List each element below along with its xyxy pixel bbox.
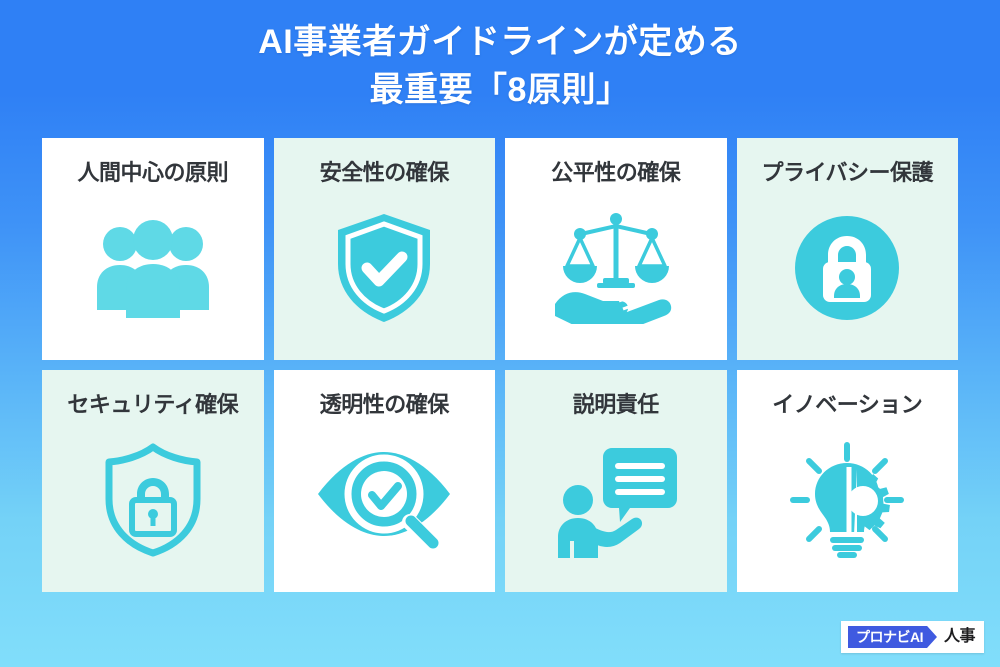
poster-canvas: AI事業者ガイドラインが定める 最重要「8原則」 人間中心の原則: [0, 0, 1000, 667]
logo-brand: プロナビAI: [848, 626, 937, 648]
shield-check-icon: [282, 186, 488, 350]
logo-suffix: 人事: [944, 628, 975, 646]
title-line-2: 最重要「8原則」: [0, 66, 1000, 114]
principle-card-8: イノベーション: [737, 370, 959, 592]
eye-magnifier-check-icon: [282, 418, 488, 582]
person-speech-bubble-icon: [513, 418, 719, 582]
card-title: 安全性の確保: [320, 160, 449, 186]
principles-grid: 人間中心の原則 安全性の確保: [42, 138, 958, 592]
card-title: 説明責任: [573, 392, 659, 418]
principle-card-6: 透明性の確保: [274, 370, 496, 592]
card-title: セキュリティ確保: [67, 392, 238, 418]
lock-circle-icon: [745, 186, 951, 350]
page-title: AI事業者ガイドラインが定める 最重要「8原則」: [0, 18, 1000, 115]
card-title: プライバシー保護: [761, 160, 933, 186]
scales-on-hand-icon: [513, 186, 719, 350]
card-title: 公平性の確保: [551, 160, 680, 186]
title-line-1: AI事業者ガイドラインが定める: [0, 18, 1000, 66]
three-people-icon: [50, 186, 256, 350]
principle-card-1: 人間中心の原則: [42, 138, 264, 360]
principle-card-2: 安全性の確保: [274, 138, 496, 360]
card-title: 人間中心の原則: [77, 160, 228, 186]
principle-card-4: プライバシー保護: [737, 138, 959, 360]
principle-card-5: セキュリティ確保: [42, 370, 264, 592]
card-title: 透明性の確保: [320, 392, 449, 418]
shield-padlock-icon: [50, 418, 256, 582]
principle-card-7: 説明責任: [505, 370, 727, 592]
principle-card-3: 公平性の確保: [505, 138, 727, 360]
lightbulb-gear-icon: [745, 418, 951, 582]
card-title: イノベーション: [772, 392, 922, 418]
logo-badge: プロナビAI 人事: [841, 621, 984, 653]
